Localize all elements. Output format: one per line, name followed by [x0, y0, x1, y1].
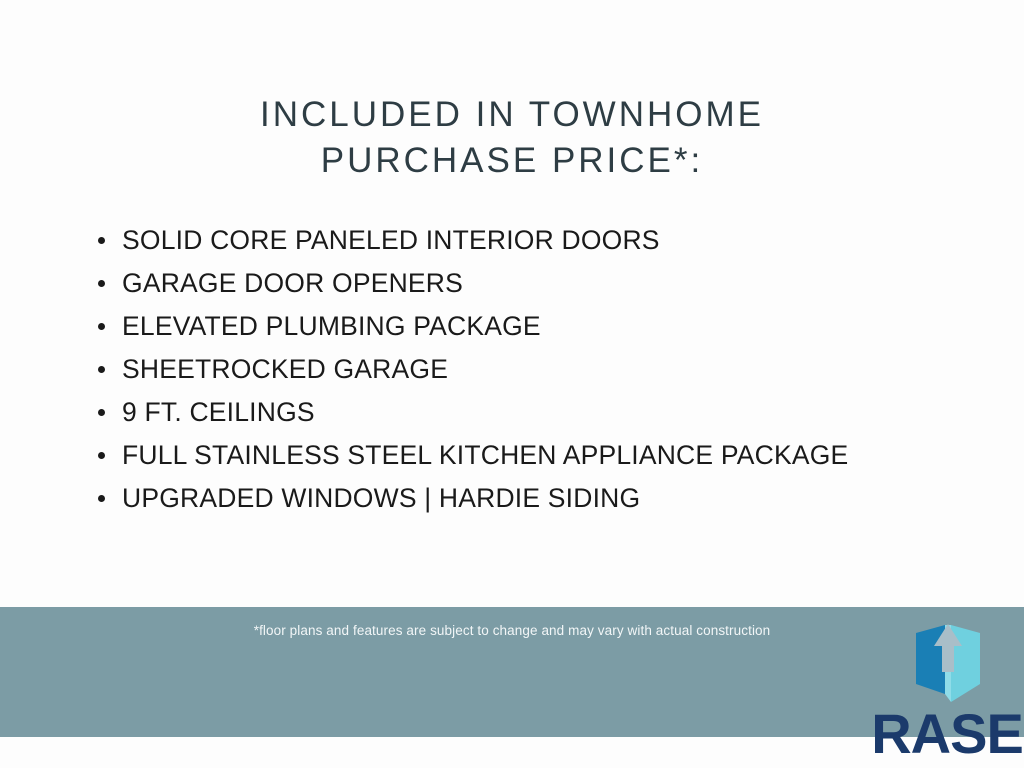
bullet-dot-icon [98, 366, 105, 373]
bullet-dot-icon [98, 409, 105, 416]
page-title-line-2: PURCHASE PRICE*: [0, 138, 1024, 184]
list-item: SHEETROCKED GARAGE [95, 348, 995, 391]
list-item: SOLID CORE PANELED INTERIOR DOORS [95, 219, 995, 262]
list-item-label: SHEETROCKED GARAGE [122, 354, 448, 384]
list-item-label: UPGRADED WINDOWS | HARDIE SIDING [122, 483, 640, 513]
bullet-dot-icon [98, 323, 105, 330]
list-item-label: 9 FT. CEILINGS [122, 397, 315, 427]
list-item-label: ELEVATED PLUMBING PACKAGE [122, 311, 541, 341]
brand-wordmark: RASE [870, 706, 1024, 762]
list-item-label: SOLID CORE PANELED INTERIOR DOORS [122, 225, 660, 255]
list-item-label: GARAGE DOOR OPENERS [122, 268, 463, 298]
list-item: UPGRADED WINDOWS | HARDIE SIDING [95, 477, 995, 520]
list-item: FULL STAINLESS STEEL KITCHEN APPLIANCE P… [95, 434, 995, 477]
list-item: GARAGE DOOR OPENERS [95, 262, 995, 305]
page-title-line-1: INCLUDED IN TOWNHOME [0, 92, 1024, 138]
bullet-dot-icon [98, 280, 105, 287]
list-item: ELEVATED PLUMBING PACKAGE [95, 305, 995, 348]
bullet-dot-icon [98, 495, 105, 502]
bullet-dot-icon [98, 237, 105, 244]
rase-open-book-arrow-icon [898, 612, 998, 708]
slide-canvas: INCLUDED IN TOWNHOME PURCHASE PRICE*: SO… [0, 0, 1024, 768]
list-item-label: FULL STAINLESS STEEL KITCHEN APPLIANCE P… [122, 440, 848, 470]
bullet-dot-icon [98, 452, 105, 459]
page-title: INCLUDED IN TOWNHOME PURCHASE PRICE*: [0, 92, 1024, 184]
brand-logo: RASE [870, 612, 1024, 760]
list-item: 9 FT. CEILINGS [95, 391, 995, 434]
included-features-list: SOLID CORE PANELED INTERIOR DOORS GARAGE… [95, 219, 995, 520]
